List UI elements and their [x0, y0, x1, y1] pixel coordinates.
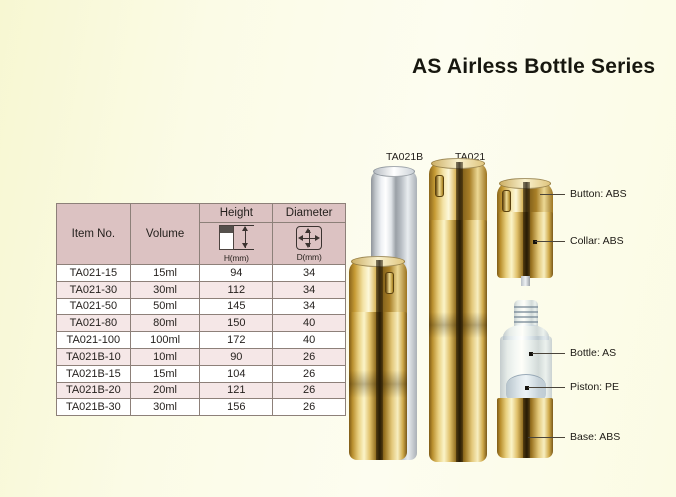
- cell-item: TA021B-15: [57, 365, 131, 382]
- cell-volume: 30ml: [130, 399, 200, 416]
- cell-item: TA021-15: [57, 265, 131, 282]
- column-header-height: Height: [200, 204, 273, 223]
- table-row: TA021-3030ml11234: [57, 281, 346, 298]
- column-header-diameter: Diameter: [273, 204, 346, 223]
- cell-item: TA021-30: [57, 281, 131, 298]
- cell-diameter: 26: [273, 365, 346, 382]
- pump-lever-icon: [435, 175, 444, 197]
- cell-volume: 50ml: [130, 298, 200, 315]
- cell-diameter: 40: [273, 315, 346, 332]
- column-header-diameter-icon-cell: D(mm): [273, 223, 346, 265]
- leader-line-piston: [528, 387, 565, 388]
- cell-diameter: 34: [273, 281, 346, 298]
- table-row: TA021B-2020ml12126: [57, 382, 346, 399]
- leader-line-base: [528, 437, 565, 438]
- leader-line-collar: [535, 241, 565, 242]
- product-photo: TA021B TA021: [345, 140, 585, 470]
- cell-diameter: 34: [273, 298, 346, 315]
- table-header: Item No. Volume Height Diameter: [57, 204, 346, 265]
- callout-button: Button: ABS: [570, 188, 627, 200]
- cell-height: 112: [200, 281, 273, 298]
- cell-item: TA021-50: [57, 298, 131, 315]
- cell-volume: 80ml: [130, 315, 200, 332]
- cell-height: 90: [200, 348, 273, 365]
- cell-item: TA021B-30: [57, 399, 131, 416]
- cell-item: TA021-100: [57, 332, 131, 349]
- table-row: TA021-8080ml15040: [57, 315, 346, 332]
- cell-height: 156: [200, 399, 273, 416]
- specification-table: Item No. Volume Height Diameter: [56, 203, 346, 416]
- table-row: TA021B-1010ml9026: [57, 348, 346, 365]
- specification-table-wrapper: Item No. Volume Height Diameter: [56, 203, 346, 416]
- cell-item: TA021B-10: [57, 348, 131, 365]
- leader-line-button: [540, 194, 565, 195]
- bottle-ta021-gold-short: [349, 260, 407, 460]
- exploded-clear-bottle: [499, 300, 553, 408]
- model-label-ta021b: TA021B: [386, 151, 423, 163]
- page-title: AS Airless Bottle Series: [412, 55, 655, 79]
- diameter-unit-label: D(mm): [297, 252, 322, 262]
- table-row: TA021-5050ml14534: [57, 298, 346, 315]
- table-body: TA021-1515ml9434TA021-3030ml11234TA021-5…: [57, 265, 346, 416]
- cell-item: TA021-80: [57, 315, 131, 332]
- table-row: TA021-100100ml17240: [57, 332, 346, 349]
- cell-diameter: 26: [273, 348, 346, 365]
- leader-line-bottle: [532, 353, 565, 354]
- pump-stem: [521, 276, 530, 286]
- cell-diameter: 26: [273, 399, 346, 416]
- cell-height: 150: [200, 315, 273, 332]
- callout-piston: Piston: PE: [570, 381, 619, 393]
- cell-volume: 100ml: [130, 332, 200, 349]
- cell-volume: 15ml: [130, 265, 200, 282]
- column-header-item-no: Item No.: [57, 204, 131, 265]
- cell-diameter: 34: [273, 265, 346, 282]
- bottle-height-dimension-icon: [213, 224, 259, 251]
- table-header-row-top: Item No. Volume Height Diameter: [57, 204, 346, 223]
- product-spec-sheet: AS Airless Bottle Series Item No. Volume…: [0, 0, 676, 497]
- cell-volume: 20ml: [130, 382, 200, 399]
- cell-item: TA021B-20: [57, 382, 131, 399]
- bottle-diameter-crosshair-icon: [296, 226, 322, 250]
- cell-height: 94: [200, 265, 273, 282]
- cell-volume: 30ml: [130, 281, 200, 298]
- callout-bottle: Bottle: AS: [570, 347, 616, 359]
- column-header-volume: Volume: [130, 204, 200, 265]
- pump-lever-icon: [502, 190, 511, 212]
- callout-collar: Collar: ABS: [570, 235, 624, 247]
- table-row: TA021B-3030ml15626: [57, 399, 346, 416]
- height-unit-label: H(mm): [224, 253, 249, 263]
- cell-height: 172: [200, 332, 273, 349]
- bottle-ta021-gold-tall: [429, 162, 487, 462]
- pump-lever-icon: [385, 272, 394, 294]
- table-row: TA021B-1515ml10426: [57, 365, 346, 382]
- callout-base: Base: ABS: [570, 431, 620, 443]
- exploded-gold-base: [497, 398, 553, 458]
- cell-height: 145: [200, 298, 273, 315]
- table-row: TA021-1515ml9434: [57, 265, 346, 282]
- cell-volume: 10ml: [130, 348, 200, 365]
- cell-volume: 15ml: [130, 365, 200, 382]
- column-header-height-icon-cell: H(mm): [200, 223, 273, 265]
- cell-height: 104: [200, 365, 273, 382]
- exploded-collar-assembly: [497, 182, 553, 278]
- cell-height: 121: [200, 382, 273, 399]
- cell-diameter: 26: [273, 382, 346, 399]
- cell-diameter: 40: [273, 332, 346, 349]
